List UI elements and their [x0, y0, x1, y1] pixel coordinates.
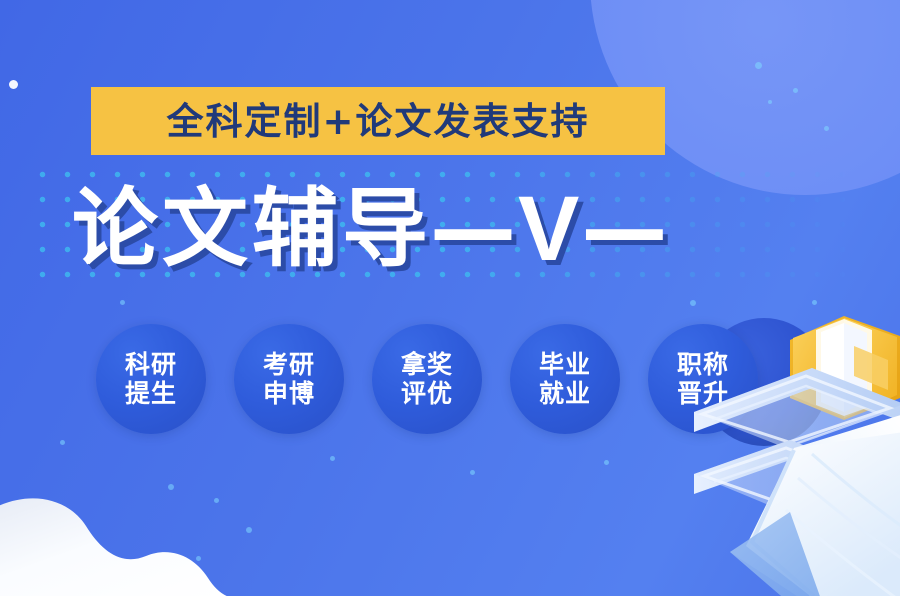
- sparkle-dot-icon: [9, 80, 18, 89]
- bubble-line-2: 提生: [125, 379, 177, 409]
- bubble-line-1: 考研: [263, 350, 315, 380]
- bubble-line-1: 科研: [125, 350, 177, 380]
- headline-dash-left: —: [430, 186, 516, 272]
- benefit-bubble[interactable]: 科研 提生: [96, 324, 206, 434]
- sparkle-dot-icon: [470, 470, 475, 475]
- headline-letter-v: V: [514, 183, 583, 275]
- benefit-bubble-row: 科研 提生 考研 申博 拿奖 评优 毕业 就业 职称 晋升: [96, 324, 758, 434]
- sparkle-dot-icon: [768, 100, 772, 104]
- bubble-line-2: 评优: [401, 379, 453, 409]
- sparkle-dot-icon: [793, 88, 798, 93]
- sparkle-dot-icon: [120, 300, 125, 305]
- sub-banner-text: 全科定制+论文发表支持: [166, 103, 589, 140]
- white-open-book-icon: [730, 414, 900, 596]
- benefit-bubble[interactable]: 毕业 就业: [510, 324, 620, 434]
- benefit-bubble[interactable]: 考研 申博: [234, 324, 344, 434]
- headline-word: 论文辅导: [72, 186, 432, 272]
- sparkle-dot-icon: [60, 440, 65, 445]
- headline-dash-right: —: [581, 186, 667, 272]
- white-wave-decoration-icon: [0, 460, 314, 596]
- sparkle-dot-icon: [824, 126, 829, 131]
- sparkle-dot-icon: [755, 62, 762, 69]
- page-title: 论文辅导 — V —: [72, 181, 862, 277]
- books-illustration-icon: [694, 302, 900, 596]
- bubble-line-1: 拿奖: [401, 350, 453, 380]
- sparkle-dot-icon: [604, 460, 609, 465]
- sub-banner: 全科定制+论文发表支持: [91, 87, 665, 155]
- promo-poster: 全科定制+论文发表支持 论文辅导 — V — 科研 提生 考研 申博 拿奖 评优…: [0, 0, 900, 596]
- bubble-line-2: 就业: [539, 379, 591, 409]
- bubble-line-1: 毕业: [539, 350, 591, 380]
- sparkle-dot-icon: [330, 456, 335, 461]
- benefit-bubble[interactable]: 拿奖 评优: [372, 324, 482, 434]
- bubble-line-2: 申博: [263, 379, 315, 409]
